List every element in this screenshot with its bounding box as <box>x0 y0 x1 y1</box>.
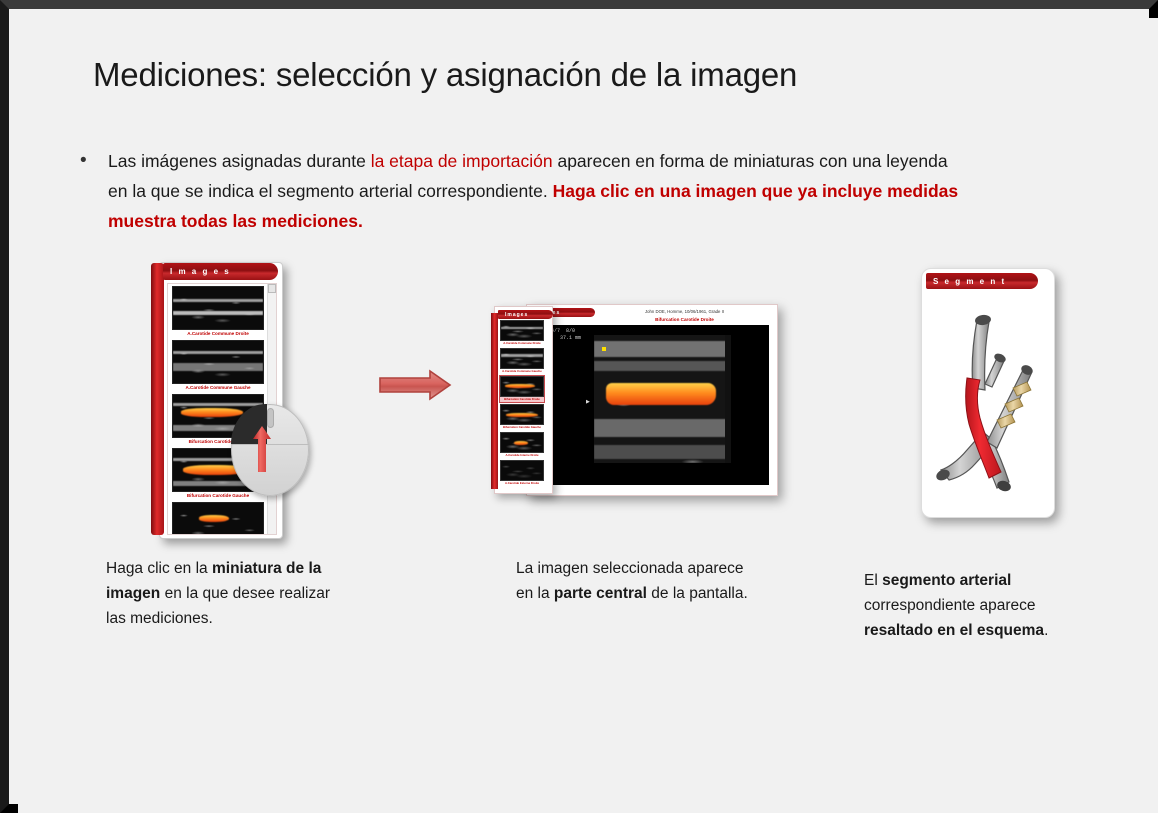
up-arrow-icon <box>253 426 271 472</box>
list-item[interactable]: A.Carotide Interne Droite <box>172 502 264 535</box>
mouse-left-click-icon <box>231 404 309 496</box>
page-title: Mediciones: selección y asignación de la… <box>93 56 1043 94</box>
panel1-titlebar: I m a g e s <box>163 263 278 280</box>
ultrasound-texture <box>173 287 263 329</box>
thumbnail-image <box>172 340 264 384</box>
thumbnail-image <box>500 460 544 481</box>
caption-3-e: . <box>1044 622 1048 639</box>
panel3-titlebar: S e g m e n t <box>926 273 1038 289</box>
scroll-up-button[interactable] <box>268 284 276 293</box>
thumbnail-caption: A.Carotide Commune Gauche <box>172 384 264 392</box>
right-arrow-icon <box>378 368 453 402</box>
plaque-overlay <box>199 515 229 522</box>
figure-segment-schema: S e g m e n t <box>921 268 1053 516</box>
caption-2: La imagen seleccionada aparece en la par… <box>516 556 761 606</box>
ultrasound-image <box>594 335 731 463</box>
panel2-red-strip <box>491 313 498 489</box>
caption-1: Haga clic en la miniatura de la imagen e… <box>106 556 331 631</box>
image-viewer[interactable]: 7 3L4/7 8/0 PROF 37.1 mm ▶ <box>535 325 769 485</box>
caption-2-c: de la pantalla. <box>647 585 748 602</box>
thumbnail-caption: A.Carotide Commune Droite <box>500 341 544 346</box>
list-item[interactable]: A.Carotide Interne Droite <box>500 432 544 458</box>
thumbnail-caption: Bifurcation Carotide Droite <box>500 397 544 402</box>
list-item[interactable]: A.Carotide Commune Droite <box>500 320 544 346</box>
list-item[interactable]: Bifurcation Carotide Gauche <box>500 404 544 430</box>
thumbnail-image <box>500 348 544 369</box>
carotid-artery-diagram <box>927 292 1047 510</box>
patient-info-text: John DOE, Homme, 10/06/1961, Grade II <box>597 309 772 314</box>
plaque-overlay <box>606 383 716 405</box>
panel2-side-window: Images A.Carotide Commune Droite A.Carot… <box>494 306 553 494</box>
thumbnail-caption: A.Carotide Interne Droite <box>500 453 544 458</box>
figure-main-viewer: Images John DOE, Homme, 10/06/1961, Grad… <box>494 304 776 502</box>
ultrasound-texture <box>173 341 263 383</box>
thumbnail-caption: Bifurcation Carotide Gauche <box>500 425 544 430</box>
caption-2-bold: parte central <box>554 585 647 602</box>
mouse-wheel-icon <box>267 408 274 428</box>
list-item[interactable]: A.Carotide Externe Droite <box>500 460 544 486</box>
caption-3-a: El <box>864 572 882 589</box>
thumbnail-image <box>500 376 544 397</box>
bullet-seg-1: Las imágenes asignadas durante <box>108 151 371 171</box>
image-edge-bar <box>725 335 731 463</box>
thumbnail-caption: A.Carotide Externe Droite <box>500 481 544 486</box>
bullet-paragraph: • Las imágenes asignadas durante la etap… <box>80 146 960 236</box>
list-item[interactable]: A.Carotide Commune Gauche <box>500 348 544 374</box>
thumbnail-image <box>172 502 264 535</box>
caption-3-c: correspondiente aparece <box>864 597 1035 614</box>
panel2-side-titlebar: Images <box>498 310 553 319</box>
thumbnail-image <box>500 404 544 425</box>
list-item-selected[interactable]: Bifurcation Carotide Droite <box>500 376 544 402</box>
slide-canvas: Mediciones: selección y asignación de la… <box>18 18 1158 813</box>
list-item[interactable]: A.Carotide Commune Droite <box>172 286 264 338</box>
slide-frame: Mediciones: selección y asignación de la… <box>0 0 1158 813</box>
figure-thumbnail-list: I m a g e s A.Carotide Commune Droite <box>151 255 286 540</box>
thumbnail-image <box>500 432 544 453</box>
panel1-red-strip <box>151 263 164 535</box>
caption-3-bold-2: resaltado en el esquema <box>864 622 1044 639</box>
thumbnail-caption: A.Carotide Commune Droite <box>172 330 264 338</box>
bullet-seg-2-red: la etapa de importación <box>371 151 553 171</box>
bullet-body: Las imágenes asignadas durante la etapa … <box>108 146 960 236</box>
panel2-main-window: Images John DOE, Homme, 10/06/1961, Grad… <box>526 304 778 496</box>
caption-1-a: Haga clic en la <box>106 560 212 577</box>
segment-label: Bifurcation Carotide Droite <box>597 317 772 322</box>
thumbnail-image <box>500 320 544 341</box>
panel2-thumbnail-list[interactable]: A.Carotide Commune Droite A.Carotide Com… <box>499 320 548 491</box>
caption-3: El segmento arterial correspondiente apa… <box>864 568 1104 643</box>
caption-3-bold-1: segmento arterial <box>882 572 1011 589</box>
marker-dot <box>602 347 606 351</box>
thumbnail-image <box>172 286 264 330</box>
thumbnail-caption: A.Carotide Commune Gauche <box>500 369 544 374</box>
bullet-marker: • <box>80 146 108 236</box>
caliper-marker-icon: ▶ <box>586 399 590 405</box>
list-item[interactable]: A.Carotide Commune Gauche <box>172 340 264 392</box>
